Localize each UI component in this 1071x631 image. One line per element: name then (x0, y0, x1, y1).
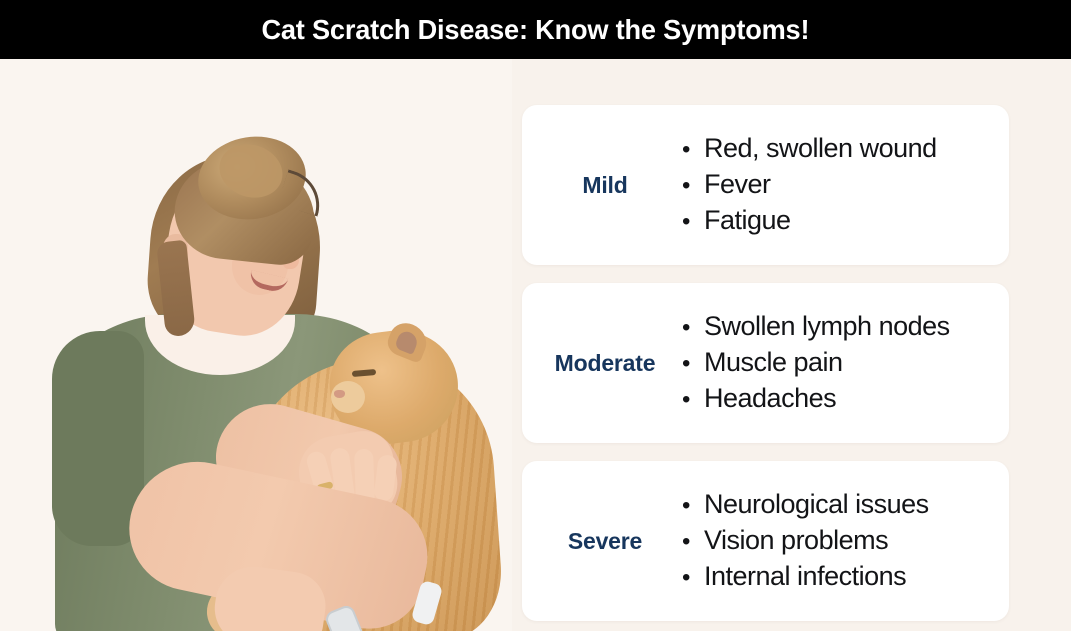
severity-card-severe[interactable]: Severe • Neurological issues • Vision pr… (522, 461, 1009, 621)
severity-label-container: Mild (522, 172, 680, 199)
list-item: • Headaches (682, 381, 1009, 417)
severity-label: Moderate (555, 350, 656, 377)
severity-label: Severe (568, 528, 642, 555)
woman-holding-cat-illustration (0, 59, 512, 631)
severity-card-mild[interactable]: Mild • Red, swollen wound • Fever • (522, 105, 1009, 265)
bullet-icon: • (682, 169, 704, 203)
severity-card-list: Mild • Red, swollen wound • Fever • (522, 105, 1009, 621)
severity-card-moderate[interactable]: Moderate • Swollen lymph nodes • Muscle … (522, 283, 1009, 443)
symptom-list-container: • Swollen lymph nodes • Muscle pain • He… (680, 309, 1009, 417)
bullet-icon: • (682, 489, 704, 523)
bullet-icon: • (682, 383, 704, 417)
symptom-text: Swollen lymph nodes (704, 309, 950, 343)
header-bar: Cat Scratch Disease: Know the Symptoms! (0, 0, 1071, 59)
bullet-icon: • (682, 525, 704, 559)
symptom-text: Headaches (704, 381, 836, 415)
symptom-text: Red, swollen wound (704, 131, 937, 165)
list-item: • Vision problems (682, 523, 1009, 559)
symptom-text: Internal infections (704, 559, 906, 593)
symptom-text: Vision problems (704, 523, 888, 557)
list-item: • Muscle pain (682, 345, 1009, 381)
severity-label-container: Severe (522, 528, 680, 555)
list-item: • Red, swollen wound (682, 131, 1009, 167)
infographic-page: Cat Scratch Disease: Know the Symptoms! (0, 0, 1071, 631)
bullet-icon: • (682, 133, 704, 167)
symptom-list-container: • Neurological issues • Vision problems … (680, 487, 1009, 595)
list-item: • Neurological issues (682, 487, 1009, 523)
severity-label-container: Moderate (522, 350, 680, 377)
bullet-icon: • (682, 561, 704, 595)
page-title: Cat Scratch Disease: Know the Symptoms! (262, 14, 810, 46)
list-item: • Fever (682, 167, 1009, 203)
symptom-text: Neurological issues (704, 487, 929, 521)
bullet-icon: • (682, 347, 704, 381)
list-item: • Swollen lymph nodes (682, 309, 1009, 345)
symptom-list: • Neurological issues • Vision problems … (682, 487, 1009, 595)
list-item: • Internal infections (682, 559, 1009, 595)
symptom-text: Muscle pain (704, 345, 843, 379)
symptom-text: Fever (704, 167, 771, 201)
bullet-icon: • (682, 311, 704, 345)
cat-nose (334, 390, 345, 398)
symptom-list: • Swollen lymph nodes • Muscle pain • He… (682, 309, 1009, 417)
symptom-list: • Red, swollen wound • Fever • Fatigue (682, 131, 1009, 239)
bullet-icon: • (682, 205, 704, 239)
list-item: • Fatigue (682, 203, 1009, 239)
content-area: Mild • Red, swollen wound • Fever • (0, 59, 1071, 631)
symptom-list-container: • Red, swollen wound • Fever • Fatigue (680, 131, 1009, 239)
symptom-text: Fatigue (704, 203, 791, 237)
hero-photo (0, 59, 512, 631)
severity-label: Mild (582, 172, 627, 199)
